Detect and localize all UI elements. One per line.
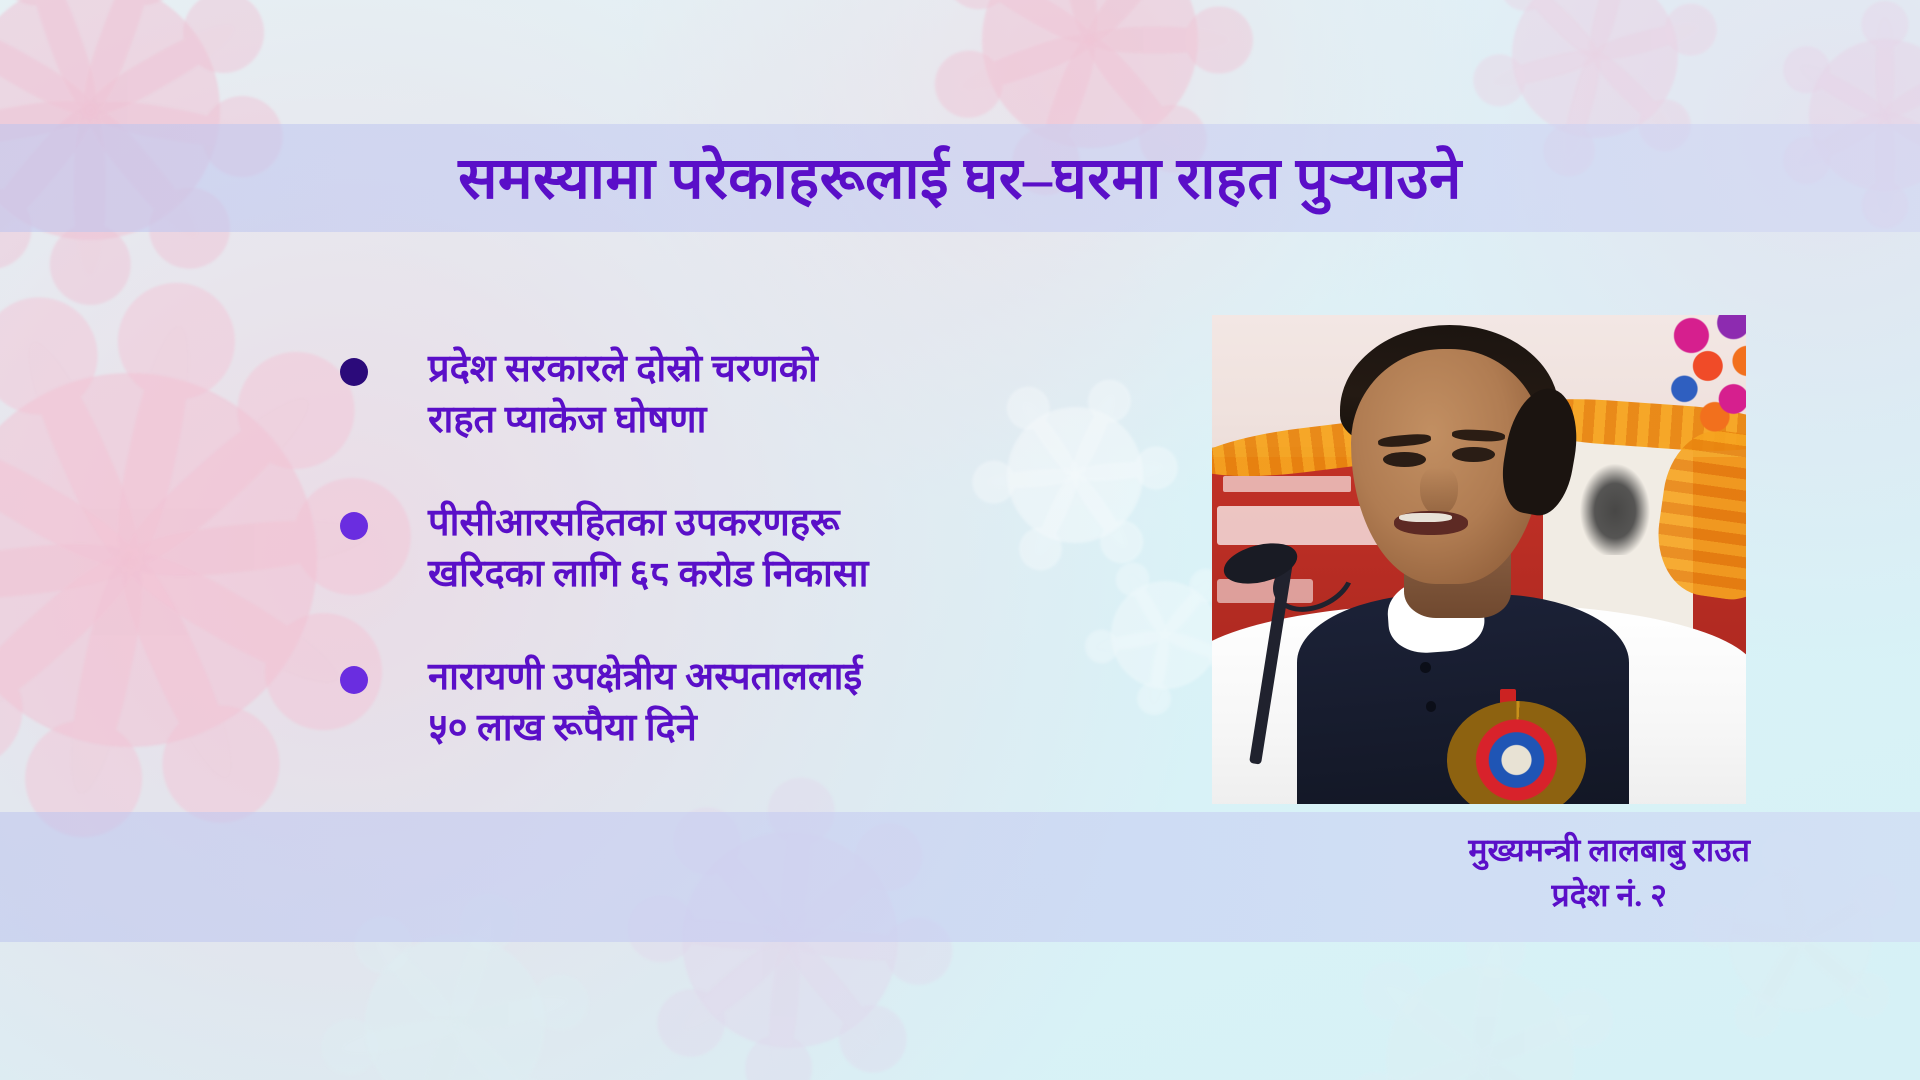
bullet-list: प्रदेश सरकारले दोस्रो चरणको राहत प्याकेज… — [340, 344, 1080, 753]
list-item: नारायणी उपक्षेत्रीय अस्पताललाई ५० लाख रू… — [340, 652, 1080, 754]
bullet-line: ५० लाख रूपैया दिने — [428, 703, 862, 754]
virus-particle-icon — [1350, 930, 1610, 1080]
list-item: प्रदेश सरकारले दोस्रो चरणको राहत प्याकेज… — [340, 344, 1080, 446]
bullet-text: पीसीआरसहितका उपकरणहरू खरिदका लागि ६८ करो… — [428, 498, 868, 600]
bullet-dot-icon — [340, 512, 368, 540]
flower-bouquet — [1661, 315, 1746, 432]
photo-caption: मुख्यमन्त्री लालबाबु राउत प्रदेश नं. २ — [1468, 828, 1750, 919]
portrait-photo — [1212, 315, 1746, 804]
virus-particle-icon — [0, 300, 390, 820]
bullet-line: प्रदेश सरकारले दोस्रो चरणको — [428, 344, 818, 395]
bullet-dot-icon — [340, 666, 368, 694]
infographic-poster: समस्यामा परेकाहरूलाई घर–घरमा राहत पुऱ्या… — [0, 0, 1920, 1080]
bullet-dot-icon — [340, 358, 368, 386]
caption-name: मुख्यमन्त्री लालबाबु राउत — [1468, 828, 1750, 873]
bullet-line: खरिदका लागि ६८ करोड निकासा — [428, 549, 868, 600]
bullet-line: राहत प्याकेज घोषणा — [428, 395, 818, 446]
virus-particle-icon — [330, 900, 580, 1080]
bullet-text: प्रदेश सरकारले दोस्रो चरणको राहत प्याकेज… — [428, 344, 818, 446]
bullet-text: नारायणी उपक्षेत्रीय अस्पताललाई ५० लाख रू… — [428, 652, 862, 754]
virus-particle-icon — [640, 790, 940, 1080]
list-item: पीसीआरसहितका उपकरणहरू खरिदका लागि ६८ करो… — [340, 498, 1080, 600]
page-title: समस्यामा परेकाहरूलाई घर–घरमा राहत पुऱ्या… — [0, 140, 1920, 218]
bullet-line: नारायणी उपक्षेत्रीय अस्पताललाई — [428, 652, 862, 703]
medal-badge-icon — [1447, 701, 1586, 804]
bullet-line: पीसीआरसहितका उपकरणहरू — [428, 498, 868, 549]
emblem-icon — [1575, 457, 1655, 555]
caption-province: प्रदेश नं. २ — [1468, 873, 1750, 918]
